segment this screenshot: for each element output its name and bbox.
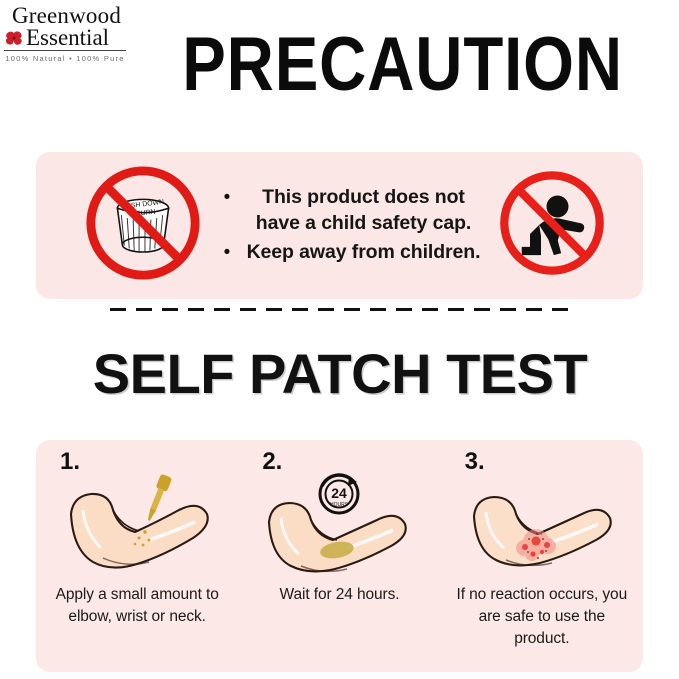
precaution-bullet: • This product does not have a child saf… — [216, 185, 489, 236]
step-caption: Wait for 24 hours. — [270, 584, 410, 606]
timer-unit: HOURS — [330, 502, 349, 508]
patch-step-2: 2. 24 HOURS — [238, 440, 440, 672]
precaution-title: PRECAUTION — [182, 30, 578, 100]
infographic-page: Greenwood Essential 100% Natural • 100% … — [0, 0, 679, 679]
step-caption: If no reaction occurs, you are safe to u… — [441, 584, 643, 650]
patch-test-panel: 1. — [36, 440, 643, 672]
elbow-with-dropper-icon — [53, 468, 221, 578]
no-children-icon — [497, 168, 607, 283]
bullet-text: Keep away from children. — [238, 240, 489, 265]
bullet-text: This product does not have a child safet… — [238, 185, 489, 236]
self-patch-test-title: SELF PATCH TEST — [40, 346, 640, 402]
precaution-bullet-list: • This product does not have a child saf… — [202, 185, 497, 265]
bullet-marker: • — [216, 240, 238, 265]
step-number: 1. — [60, 448, 80, 476]
precaution-bullet: • Keep away from children. — [216, 240, 489, 265]
patch-step-1: 1. — [36, 440, 238, 672]
brand-name-line1: Greenwood — [4, 4, 129, 27]
no-child-safety-cap-icon: PUSH DOWN & TURN — [84, 164, 202, 287]
timer-value: 24 — [332, 485, 348, 501]
brand-name-line2: Essential — [26, 26, 109, 49]
bullet-marker: • — [216, 185, 238, 210]
patch-step-3: 3. — [441, 440, 643, 672]
step-number: 3. — [465, 448, 485, 476]
section-divider — [110, 308, 570, 311]
elbow-with-timer-icon: 24 HOURS — [255, 468, 423, 578]
step-number: 2. — [262, 448, 282, 476]
logo-divider — [4, 50, 126, 51]
elbow-with-rash-icon — [458, 468, 626, 578]
brand-logo: Greenwood Essential 100% Natural • 100% … — [4, 4, 129, 63]
brand-tagline: 100% Natural • 100% Pure — [4, 54, 126, 63]
brand-name-row: Essential — [4, 26, 129, 49]
flower-icon — [4, 28, 24, 48]
precaution-panel: PUSH DOWN & TURN • This product does not… — [36, 152, 643, 299]
step-caption: Apply a small amount to elbow, wrist or … — [36, 584, 238, 628]
